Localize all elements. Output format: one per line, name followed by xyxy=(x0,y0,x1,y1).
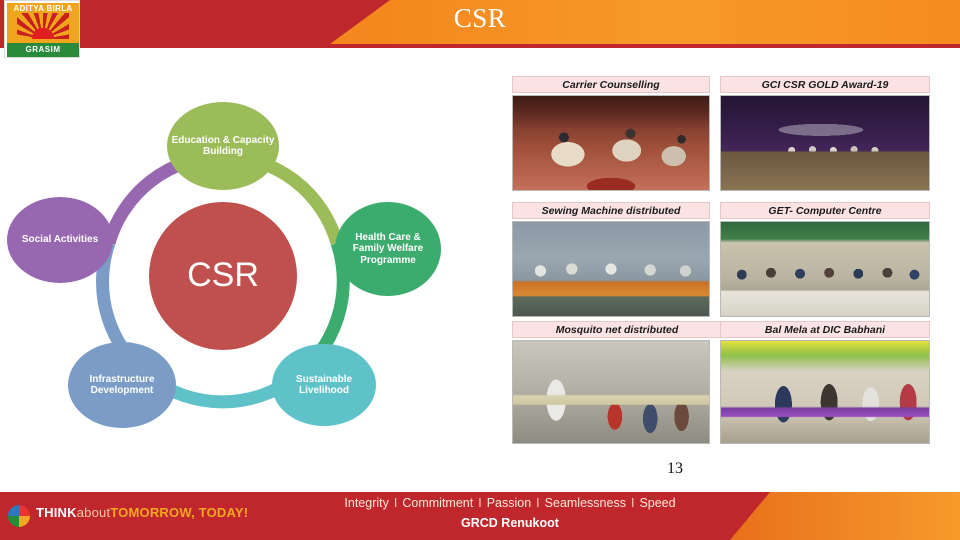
photo-caption-text: Bal Mela at DIC Babhani xyxy=(765,324,885,336)
photo-caption-text: Carrier Counselling xyxy=(562,79,659,91)
page-number: 13 xyxy=(620,460,730,478)
diagram-center-node: CSR xyxy=(149,202,297,350)
footer-tagline-tomorrow: TOMORROW, TODAY! xyxy=(110,505,248,520)
photo-image-bal-mela xyxy=(720,340,930,444)
photo-caption-text: GET- Computer Centre xyxy=(768,205,881,217)
sunrise-icon xyxy=(17,13,69,39)
footer-value-seamlessness: Seamlessness xyxy=(545,496,626,510)
photo-caption-text: Mosquito net distributed xyxy=(556,324,679,336)
diagram-node-social-label: Social Activities xyxy=(22,234,98,246)
footer-value-speed: Speed xyxy=(639,496,675,510)
photo-image-mosquito-net xyxy=(512,340,710,444)
diagram-node-infrastructure-label: Infrastructure Development xyxy=(72,374,172,397)
header-underline-white xyxy=(0,48,960,50)
footer-tagline-think: THINK xyxy=(36,505,77,520)
photo-caption-sewing-machine: Sewing Machine distributed xyxy=(512,202,710,219)
think-logo-icon xyxy=(8,505,30,527)
logo-unit-band: GRASIM xyxy=(7,43,79,57)
footer-value-separator: I xyxy=(531,496,544,510)
page-title: CSR xyxy=(0,3,960,34)
footer-value-integrity: Integrity xyxy=(344,496,388,510)
photo-caption-gci-award: GCI CSR GOLD Award-19 xyxy=(720,76,930,93)
photo-image-computer-centre xyxy=(720,221,930,317)
diagram-node-sustainable-label: Sustainable Livelihood xyxy=(276,374,372,397)
footer-value-separator: I xyxy=(389,496,402,510)
diagram-node-sustainable-livelihood: Sustainable Livelihood xyxy=(272,344,376,426)
photo-caption-bal-mela: Bal Mela at DIC Babhani xyxy=(720,321,930,338)
photo-caption-mosquito-net: Mosquito net distributed xyxy=(512,321,722,338)
diagram-node-education-label: Education & Capacity Building xyxy=(171,135,275,158)
diagram-center-label: CSR xyxy=(187,256,259,295)
footer-value-separator: I xyxy=(473,496,486,510)
csr-ring-diagram: CSR Education & Capacity Building Health… xyxy=(0,70,470,430)
photo-image-gci-award xyxy=(720,95,930,191)
diagram-node-health-label: Health Care & Family Welfare Programme xyxy=(339,232,437,267)
slide-header: CSR xyxy=(0,0,960,52)
footer-value-passion: Passion xyxy=(487,496,531,510)
footer-values-list: IntegrityICommitmentIPassionISeamlessnes… xyxy=(250,496,770,510)
photo-image-sewing-machine xyxy=(512,221,710,317)
diagram-node-education: Education & Capacity Building xyxy=(167,102,279,190)
logo-brand-text: ADITYA BIRLA xyxy=(7,4,79,13)
footer-tagline: THINKaboutTOMORROW, TODAY! xyxy=(36,505,248,520)
logo-unit-text: GRASIM xyxy=(7,45,79,54)
slide-footer: THINKaboutTOMORROW, TODAY! IntegrityICom… xyxy=(0,492,960,540)
photo-image-carrier-counselling xyxy=(512,95,710,191)
diagram-node-social-activities: Social Activities xyxy=(7,197,113,283)
footer-value-commitment: Commitment xyxy=(402,496,473,510)
photo-caption-carrier-counselling: Carrier Counselling xyxy=(512,76,710,93)
photo-caption-computer-centre: GET- Computer Centre xyxy=(720,202,930,219)
photo-caption-text: GCI CSR GOLD Award-19 xyxy=(762,79,889,91)
footer-subtitle: GRCD Renukoot xyxy=(250,516,770,530)
photo-gallery: Carrier Counselling GCI CSR GOLD Award-1… xyxy=(512,76,930,444)
photo-caption-text: Sewing Machine distributed xyxy=(542,205,681,217)
footer-value-separator: I xyxy=(626,496,639,510)
aditya-birla-grasim-logo: ADITYA BIRLA GRASIM xyxy=(4,0,80,58)
footer-tagline-about: about xyxy=(77,505,111,520)
diagram-node-health: Health Care & Family Welfare Programme xyxy=(335,202,441,296)
logo-background: ADITYA BIRLA GRASIM xyxy=(7,3,79,57)
diagram-node-infrastructure-development: Infrastructure Development xyxy=(68,342,176,428)
